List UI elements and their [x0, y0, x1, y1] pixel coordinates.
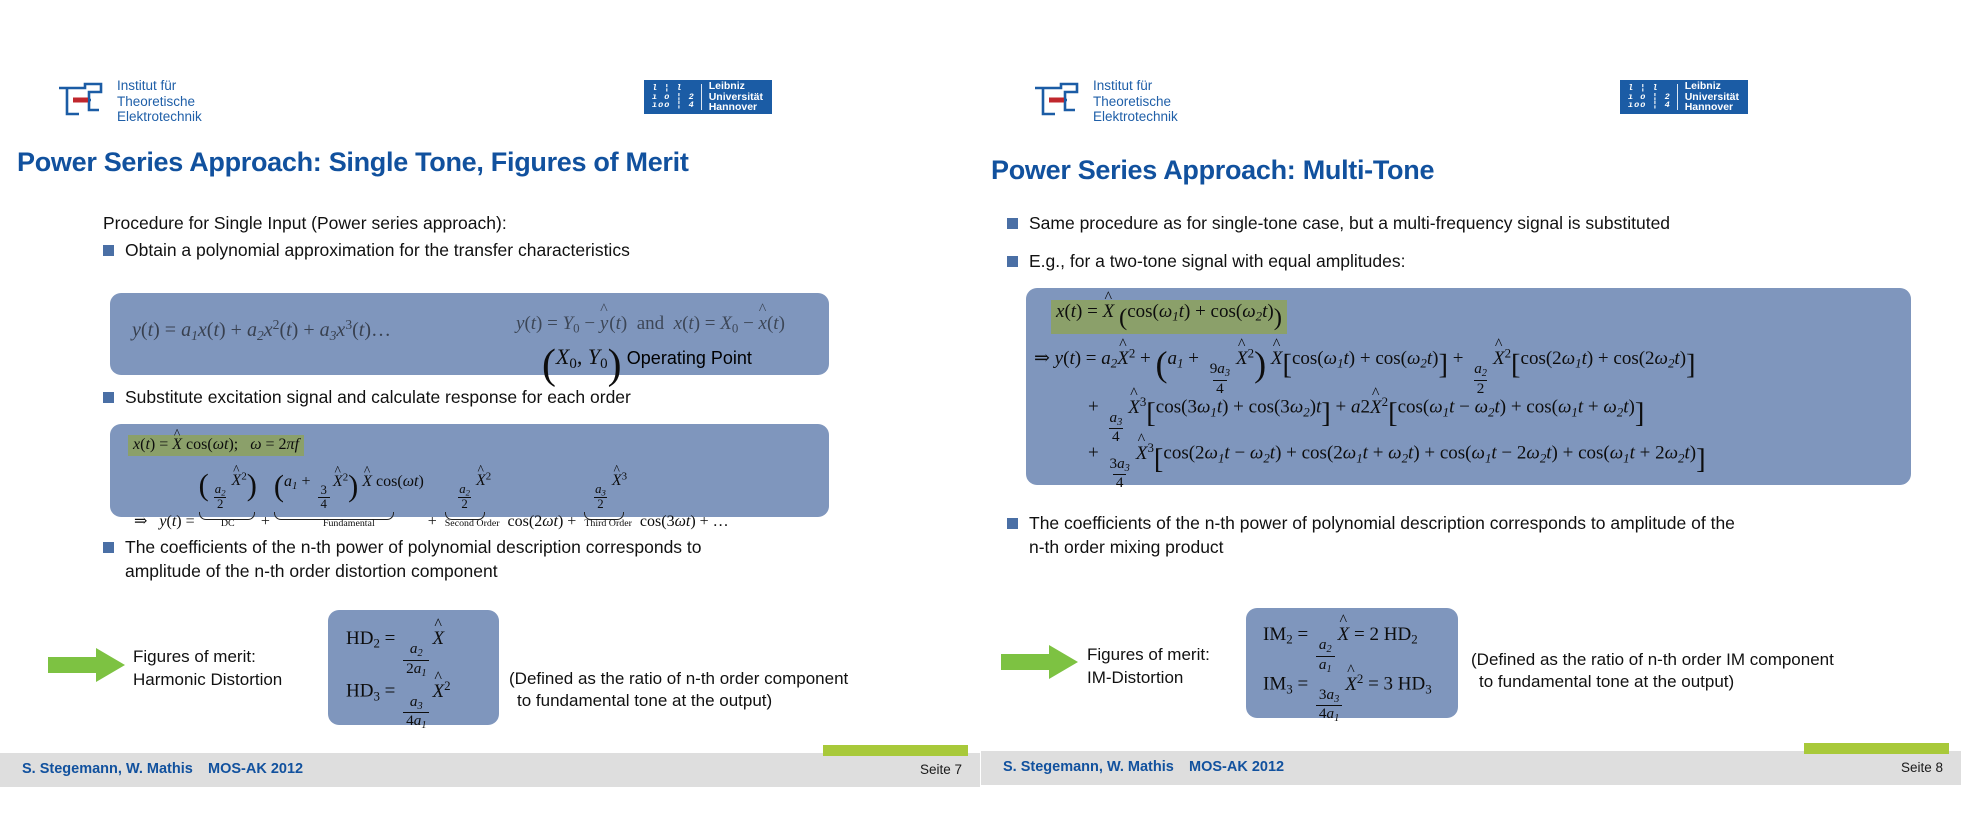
excitation-highlight: x(t) = X cos(ωt); ω = 2πf: [128, 435, 304, 456]
institute-line-2: Theoretische: [1093, 94, 1178, 110]
fom-line-1: Figures of merit:: [1087, 643, 1210, 666]
figures-of-merit-label: Figures of merit: Harmonic Distortion: [133, 645, 282, 691]
university-logo-bits: l ¦ l ı o ¦ 2 ıoo ¦ 4: [1620, 80, 1677, 114]
institute-line-3: Elektrotechnik: [117, 109, 202, 125]
bullet-text: Obtain a polynomial approximation for th…: [125, 239, 630, 263]
footer-page-number: Seite 8: [1901, 760, 1943, 775]
brace-label-third: Third Order: [584, 518, 632, 529]
procedure-intro: Procedure for Single Input (Power series…: [103, 212, 507, 235]
definition-line-1: (Defined as the ratio of n-th order comp…: [509, 668, 848, 690]
footer-page-number: Seite 7: [920, 762, 962, 777]
brace-label-fundamental: Fundamental: [274, 518, 424, 529]
tet-logo-mark-icon: [1031, 80, 1086, 122]
university-logo-name: Leibniz Universität Hannover: [702, 80, 772, 114]
excitation-highlight: x(t) = X (cos(ω1t) + cos(ω2t)): [1051, 300, 1287, 334]
operating-point-line: (X0, Y0) Operating Point: [542, 341, 752, 389]
footer-authors: S. Stegemann, W. Mathis: [22, 761, 193, 777]
footer-conference: MOS-AK 2012: [1189, 759, 1284, 775]
formula-hd3: HD3 = a34a1X2: [346, 678, 451, 732]
logo-divider: [1677, 84, 1678, 110]
figures-of-merit-label: Figures of merit: IM-Distortion: [1087, 643, 1210, 689]
bullet-square-icon: [1007, 218, 1018, 229]
bullet-text: E.g., for a two-tone signal with equal a…: [1029, 250, 1405, 274]
institute-line-1: Institut für: [117, 78, 202, 94]
university-line-3: Hannover: [709, 102, 763, 113]
institute-line-3: Elektrotechnik: [1093, 109, 1178, 125]
bits-line-3: ıoo ¦ 4: [652, 101, 695, 110]
operating-point-label: Operating Point: [627, 348, 752, 368]
definition-line-2: to fundamental tone at the output): [509, 690, 848, 712]
university-logo: l ¦ l ı o ¦ 2 ıoo ¦ 4 Leibniz Universitä…: [1620, 80, 1748, 114]
logo-divider: [701, 84, 702, 110]
university-logo-bits: l ¦ l ı o ¦ 2 ıoo ¦ 4: [644, 80, 701, 114]
bullet-item: The coefficients of the n-th power of po…: [1007, 512, 1922, 559]
definition-line-2: to fundamental tone at the output): [1471, 671, 1834, 693]
slide-footer: S. Stegemann, W. Mathis MOS-AK 2012 Seit…: [981, 751, 1961, 785]
bullet-item: E.g., for a two-tone signal with equal a…: [1007, 250, 1907, 274]
university-line-3: Hannover: [1685, 102, 1739, 113]
bullet-text: Substitute excitation signal and calcula…: [125, 386, 631, 410]
footer-green-bar: [1804, 743, 1949, 754]
bullet-text-line-2: n-th order mixing product: [1029, 537, 1224, 557]
brace-label-dc: DC: [199, 518, 257, 529]
equation-panel-single-tone: x(t) = X cos(ωt); ω = 2πf ⇒ y(t) = (a22X…: [110, 424, 829, 517]
institute-logo: Institut für Theoretische Elektrotechnik: [55, 78, 202, 125]
tet-logo-mark-icon: [55, 80, 110, 122]
university-line-1: Leibniz: [1685, 81, 1739, 92]
bullet-item: Same procedure as for single-tone case, …: [1007, 212, 1907, 236]
institute-logo-text: Institut für Theoretische Elektrotechnik: [117, 78, 202, 125]
multi-tone-line-3: + 3a34X3[cos(2ω1t − ω2t) + cos(2ω1t + ω2…: [1088, 440, 1706, 491]
bullet-item: Substitute excitation signal and calcula…: [103, 386, 803, 410]
bullet-item: The coefficients of the n-th power of po…: [103, 536, 723, 583]
bullet-text: Same procedure as for single-tone case, …: [1029, 212, 1670, 236]
bits-line-3: ıoo ¦ 4: [1628, 101, 1671, 110]
footer-authors: S. Stegemann, W. Mathis: [1003, 759, 1174, 775]
formula-im2: IM2 = a2a1X = 2 HD2: [1263, 624, 1418, 675]
equation-panel-multi-tone: x(t) = X (cos(ω1t) + cos(ω2t)) ⇒ y(t) = …: [1026, 288, 1911, 485]
bullet-square-icon: [103, 542, 114, 553]
institute-logo-text: Institut für Theoretische Elektrotechnik: [1093, 78, 1178, 125]
multi-tone-line-2: + a34X3[cos(3ω1t) + cos(3ω2)t] + a2X2[co…: [1088, 394, 1644, 445]
institute-line-1: Institut für: [1093, 78, 1178, 94]
formula-im3: IM3 = 3a34a1X2 = 3 HD3: [1263, 671, 1432, 725]
bullet-square-icon: [1007, 518, 1018, 529]
university-logo: l ¦ l ı o ¦ 2 ıoo ¦ 4 Leibniz Universitä…: [644, 80, 772, 114]
university-line-1: Leibniz: [709, 81, 763, 92]
page-title: Power Series Approach: Single Tone, Figu…: [17, 147, 689, 178]
green-arrow-icon: [1001, 645, 1078, 679]
slide-footer: S. Stegemann, W. Mathis MOS-AK 2012 Seit…: [0, 753, 980, 787]
equation-poly-left: y(t) = a1x(t) + a2x2(t) + a3x3(t)…: [132, 317, 391, 344]
brace-label-second: Second Order: [445, 518, 500, 529]
page-title: Power Series Approach: Multi-Tone: [991, 155, 1434, 186]
definition-note: (Defined as the ratio of n-th order IM c…: [1471, 649, 1834, 693]
bullet-text-line-1: The coefficients of the n-th power of po…: [1029, 513, 1735, 533]
fom-line-2: Harmonic Distortion: [133, 668, 282, 691]
bullet-item: Obtain a polynomial approximation for th…: [103, 239, 803, 263]
formula-hd2: HD2 = a22a1X: [346, 628, 444, 679]
green-arrow-icon: [48, 648, 125, 682]
equation-panel-polynomial: y(t) = a1x(t) + a2x2(t) + a3x3(t)… y(t) …: [110, 293, 829, 375]
definition-note: (Defined as the ratio of n-th order comp…: [509, 668, 848, 712]
slide-single-tone: Institut für Theoretische Elektrotechnik…: [0, 0, 980, 818]
fom-line-1: Figures of merit:: [133, 645, 282, 668]
bullet-square-icon: [103, 245, 114, 256]
bullet-text: The coefficients of the n-th power of po…: [1029, 512, 1735, 559]
university-logo-name: Leibniz Universität Hannover: [1678, 80, 1748, 114]
hd-formula-panel: HD2 = a22a1X HD3 = a34a1X2: [328, 610, 499, 725]
single-tone-response: ⇒ y(t) = (a22X2) DC + (a1 + 34X2) X cos(…: [134, 468, 729, 531]
equation-poly-right: y(t) = Y0 − y(t) and x(t) = X0 − x(t): [516, 313, 785, 337]
bullet-square-icon: [103, 392, 114, 403]
definition-line-1: (Defined as the ratio of n-th order IM c…: [1471, 649, 1834, 671]
slide-multi-tone: Institut für Theoretische Elektrotechnik…: [981, 0, 1961, 818]
bullet-square-icon: [1007, 256, 1018, 267]
footer-conference: MOS-AK 2012: [208, 761, 303, 777]
institute-logo: Institut für Theoretische Elektrotechnik: [1031, 78, 1178, 125]
im-formula-panel: IM2 = a2a1X = 2 HD2 IM3 = 3a34a1X2 = 3 H…: [1246, 608, 1458, 718]
footer-green-bar: [823, 745, 968, 756]
bullet-text: The coefficients of the n-th power of po…: [125, 536, 723, 583]
fom-line-2: IM-Distortion: [1087, 666, 1210, 689]
institute-line-2: Theoretische: [117, 94, 202, 110]
